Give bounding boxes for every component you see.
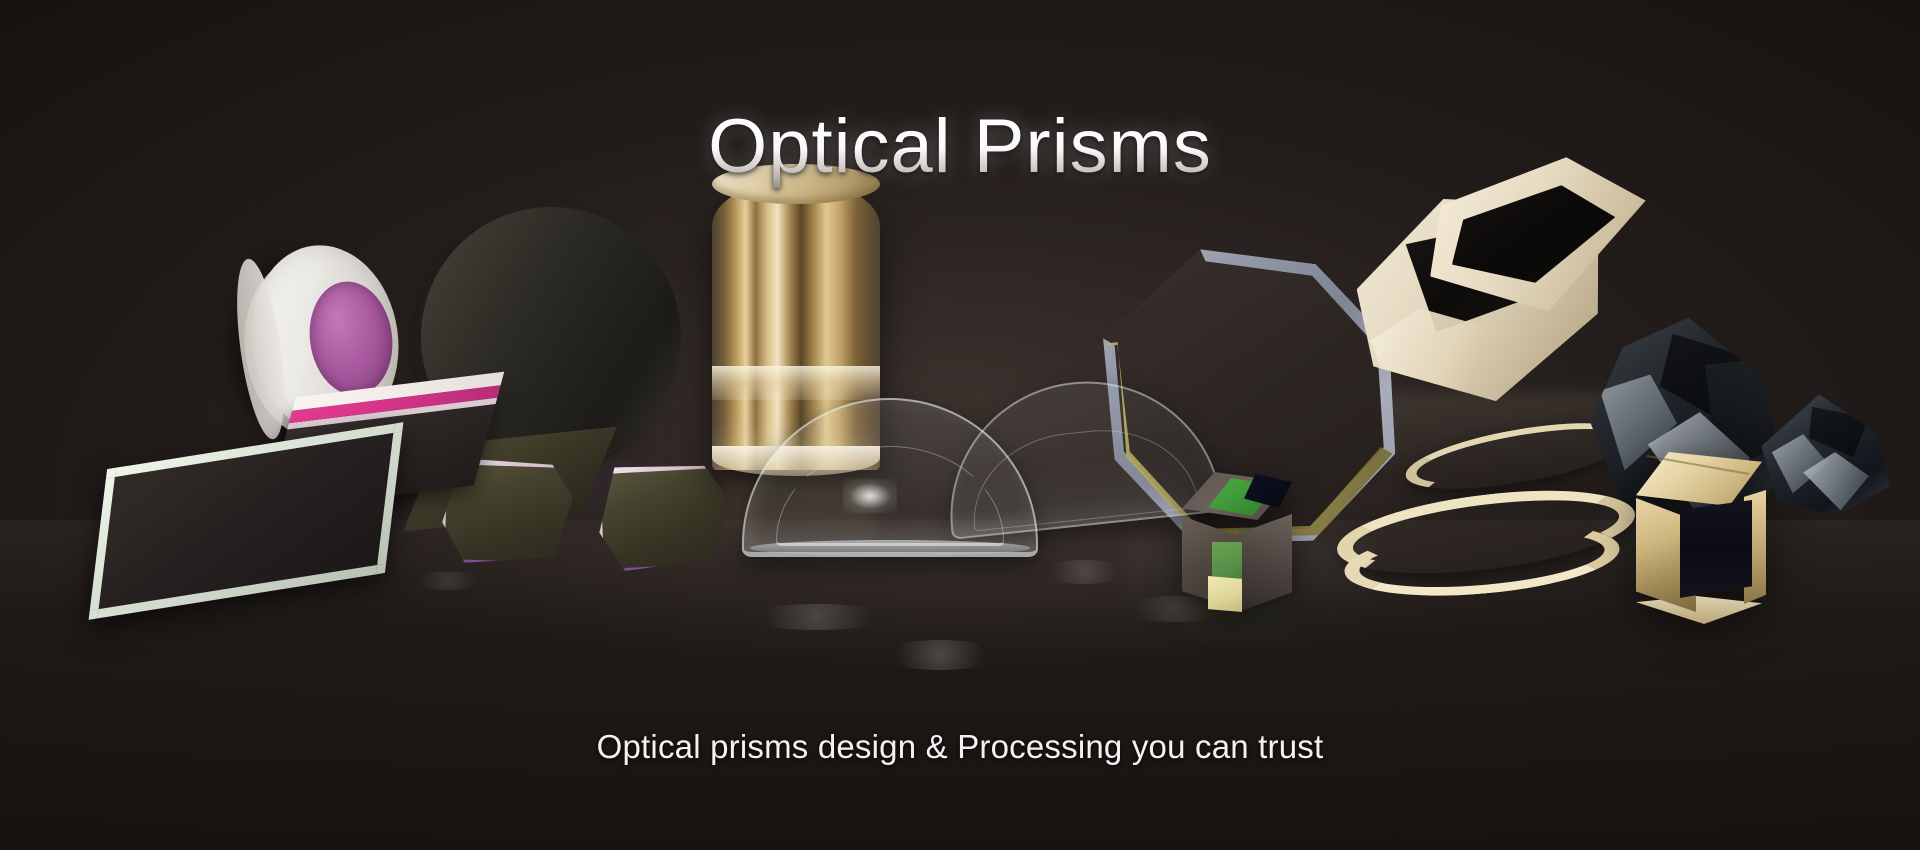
plate-edge-bottom — [447, 559, 564, 570]
rectangular-window-plate — [89, 422, 404, 620]
plate-edge-bottom — [608, 563, 724, 576]
gold-beamsplitter-cube — [1636, 486, 1762, 612]
table-speckle — [880, 640, 1000, 670]
cylinder-highlight-band — [712, 366, 880, 400]
tagline: Optical prisms design & Processing you c… — [0, 728, 1920, 766]
dome-highlight — [843, 479, 897, 513]
curved-lens-strip — [1336, 472, 1636, 592]
table-speckle — [742, 604, 892, 630]
small-crystal-prism — [1759, 391, 1891, 519]
page-title: Optical Prisms — [0, 103, 1920, 190]
optical-prisms-banner: Optical Prisms Optical prisms design & P… — [0, 0, 1920, 850]
xcube-yellow-quadrant — [1208, 576, 1242, 612]
xcube-beamsplitter — [1182, 502, 1290, 610]
table-speckle — [408, 572, 488, 590]
magenta-coated-core — [303, 276, 400, 400]
goldcube-bottom-face — [1636, 596, 1762, 624]
hexagonal-filter-plate-right — [593, 462, 730, 573]
table-speckle — [1040, 560, 1130, 584]
goldcube-front-face — [1680, 500, 1752, 598]
disc-edge — [228, 256, 293, 442]
dome-base-rim — [750, 540, 1030, 556]
plate-edge-top — [599, 457, 725, 475]
xcube-right-face — [1238, 514, 1292, 612]
